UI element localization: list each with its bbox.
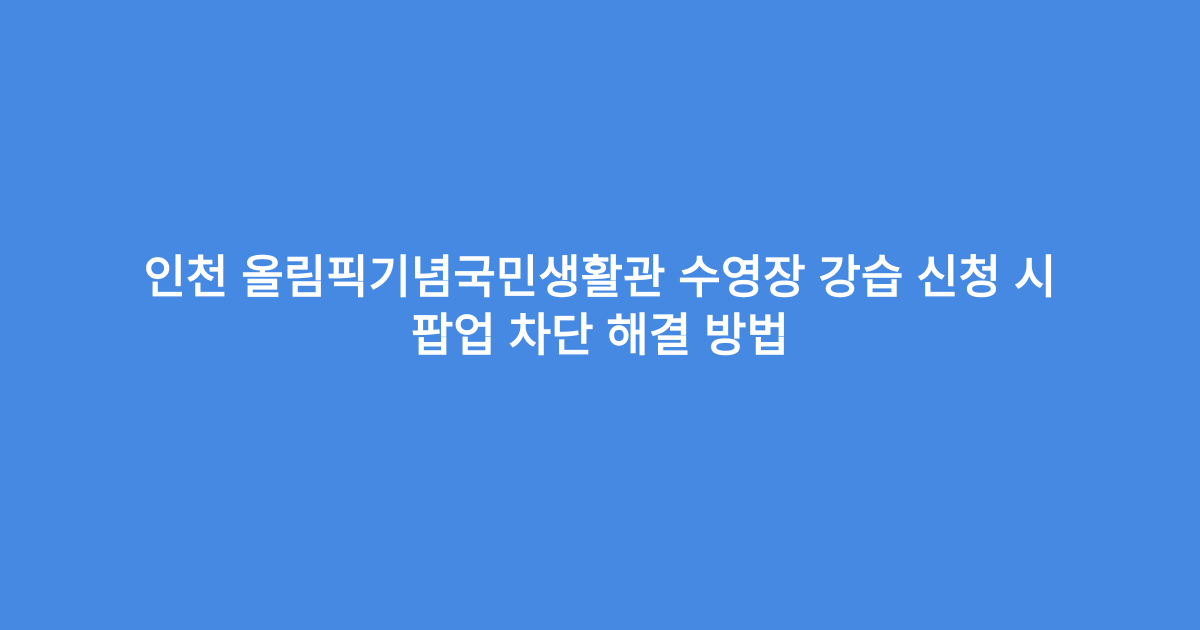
headline-block: 인천 올림픽기념국민생활관 수영장 강습 신청 시 팝업 차단 해결 방법: [70, 249, 1130, 364]
page-title: 인천 올림픽기념국민생활관 수영장 강습 신청 시 팝업 차단 해결 방법: [82, 249, 1118, 364]
share-card-banner: 인천 올림픽기념국민생활관 수영장 강습 신청 시 팝업 차단 해결 방법: [0, 0, 1200, 630]
